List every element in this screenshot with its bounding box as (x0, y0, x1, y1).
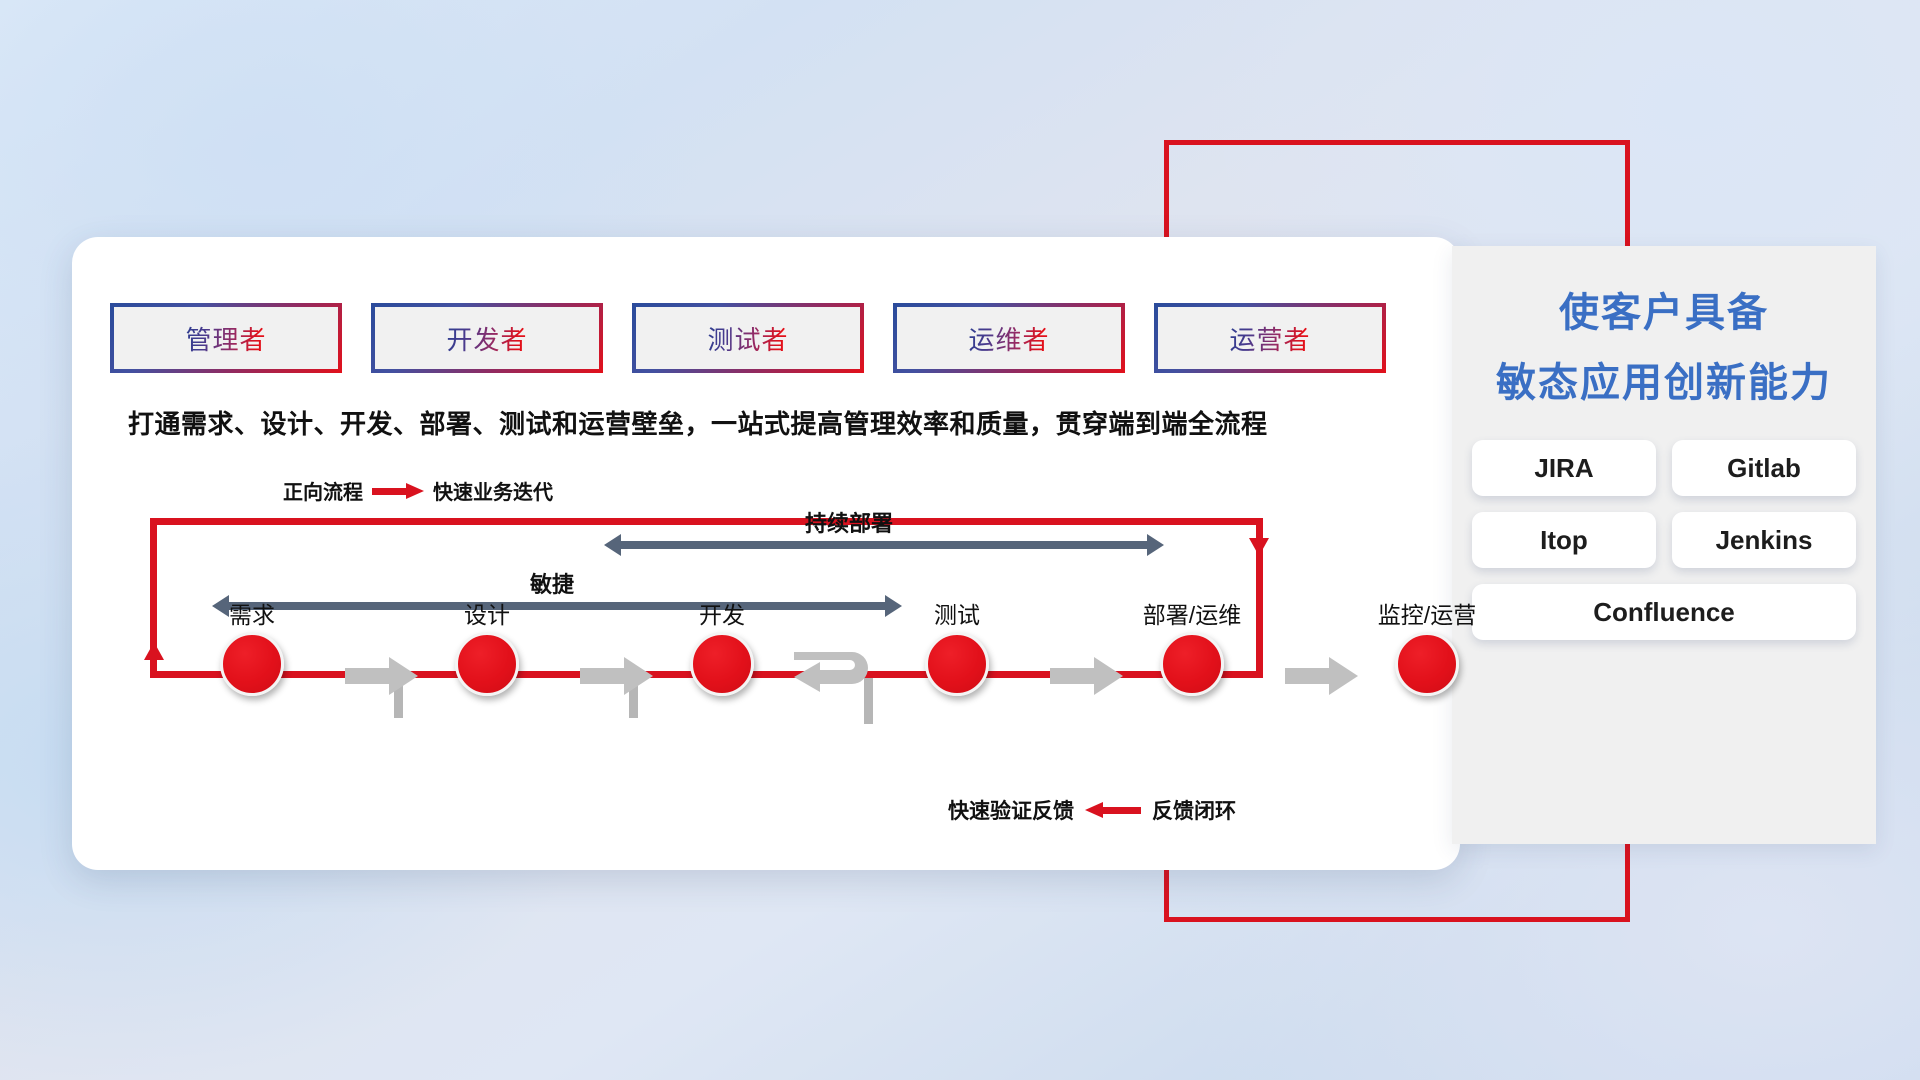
pipeline-node-label: 需求 (229, 596, 275, 630)
description-text: 打通需求、设计、开发、部署、测试和运营壁垒，一站式提高管理效率和质量，贯穿端到端… (128, 404, 1268, 441)
panel-title: 使客户具备 敏态应用创新能力 (1452, 280, 1876, 408)
tool-button-jenkins[interactable]: Jenkins (1672, 512, 1856, 568)
chevron-arrow-1-icon (345, 656, 419, 696)
continuous-deploy-double-arrow-icon (604, 534, 1164, 556)
role-box-ops[interactable]: 运维者 (893, 303, 1125, 373)
role-label: 测试者 (707, 320, 788, 357)
tool-button-jira[interactable]: JIRA (1472, 440, 1656, 496)
feedback-annotation: 快速验证反馈 反馈闭环 (948, 795, 1236, 825)
pipeline-node-dot (220, 632, 284, 696)
chevron-arrow-3-icon (1050, 656, 1124, 696)
pipeline-node-label: 设计 (464, 596, 510, 630)
pipeline-node-label: 测试 (934, 596, 980, 630)
pipeline-node-dot (690, 632, 754, 696)
arrow-left-red-icon (1085, 802, 1141, 818)
forward-flow-source-label: 正向流程 (283, 476, 363, 505)
tool-button-itop[interactable]: Itop (1472, 512, 1656, 568)
devops-pipeline: 需求 设计 开发 测试 (90, 600, 1210, 710)
role-box-tester[interactable]: 测试者 (632, 303, 864, 373)
tool-button-grid: JIRA Gitlab Itop Jenkins Confluence (1472, 440, 1856, 640)
role-label: 运维者 (968, 320, 1049, 357)
chevron-arrow-4-icon (1285, 656, 1359, 696)
arrow-right-red-icon (372, 483, 424, 499)
loop-arrowhead-down-icon (1249, 538, 1269, 556)
pipeline-node-dot (925, 632, 989, 696)
forward-flow-annotation: 正向流程 快速业务迭代 (283, 476, 553, 505)
panel-title-line2: 敏态应用创新能力 (1452, 350, 1876, 408)
value-proposition-panel: 使客户具备 敏态应用创新能力 JIRA Gitlab Itop Jenkins … (1452, 246, 1876, 844)
pipeline-node-label: 部署/运维 (1143, 596, 1241, 630)
role-label: 开发者 (446, 320, 527, 357)
feedback-loop-label: 反馈闭环 (1152, 795, 1236, 825)
pipeline-node-dot (1160, 632, 1224, 696)
forward-flow-target-label: 快速业务迭代 (433, 476, 553, 505)
role-label: 运营者 (1229, 320, 1310, 357)
pipeline-node-dot (455, 632, 519, 696)
iteration-loop-arrow-icon (790, 646, 886, 708)
role-box-list: 管理者 开发者 测试者 运维者 运营者 (110, 303, 1386, 373)
role-box-developer[interactable]: 开发者 (371, 303, 603, 373)
tool-button-confluence[interactable]: Confluence (1472, 584, 1856, 640)
feedback-result-label: 快速验证反馈 (948, 795, 1074, 825)
pipeline-node-label: 开发 (699, 596, 745, 630)
role-box-operations[interactable]: 运营者 (1154, 303, 1386, 373)
chevron-arrow-2-icon (580, 656, 654, 696)
pipeline-node-label: 监控/运营 (1378, 596, 1476, 630)
role-box-manager[interactable]: 管理者 (110, 303, 342, 373)
slide-canvas: 管理者 开发者 测试者 运维者 运营者 打通需求、设计、开发、部署、测试和运营壁… (0, 0, 1920, 1080)
panel-title-line1: 使客户具备 (1452, 280, 1876, 338)
tool-button-gitlab[interactable]: Gitlab (1672, 440, 1856, 496)
pipeline-node-dot (1395, 632, 1459, 696)
role-label: 管理者 (185, 320, 266, 357)
